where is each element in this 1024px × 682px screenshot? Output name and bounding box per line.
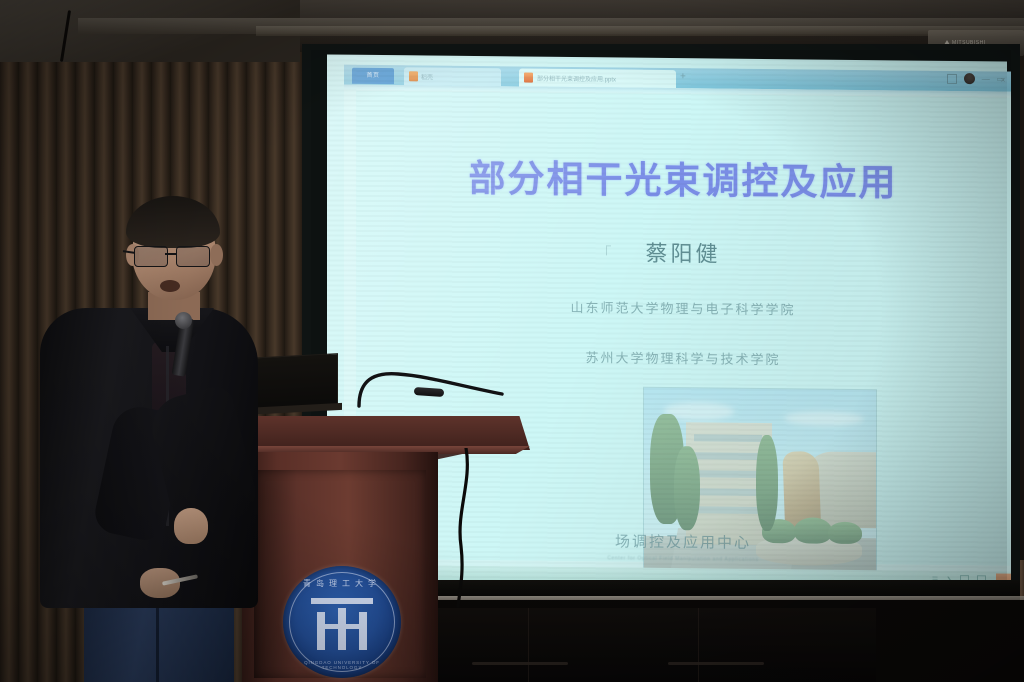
tab-docer-label: 稻壳 (421, 72, 433, 81)
emblem-name-en: QINGDAO UNIVERSITY OF TECHNOLOGY (283, 660, 401, 670)
emblem-glyph-icon (311, 598, 373, 650)
audio-cable (452, 448, 476, 608)
ceiling-beam-secondary (256, 26, 1024, 36)
minimize-window-icon[interactable]: — (982, 74, 990, 83)
gooseneck-microphone (356, 366, 508, 408)
presenter-right-hand (174, 508, 208, 544)
window-controls: — ▭ ✕ (947, 73, 1011, 85)
pptx-icon (524, 73, 533, 83)
tab-active-document[interactable]: 部分相干光束调控及应用.pptx (519, 68, 676, 88)
new-tab-icon[interactable]: + (680, 71, 686, 83)
presenter-mouth (160, 280, 180, 292)
presenter (34, 196, 264, 682)
eyeglasses-right-lens (176, 246, 210, 267)
presentation-room-scene: MITSUBISHI 首页 稻壳 部分相干光束调控及应用.pptx (0, 0, 1024, 682)
tab-home[interactable]: 首页 (352, 68, 394, 84)
user-avatar[interactable] (964, 73, 975, 84)
back-cabinet (368, 608, 876, 682)
wps-icon (409, 71, 418, 81)
emblem-name-cn: 青岛理工大学 (283, 578, 401, 589)
presentation-app-window[interactable]: 首页 稻壳 部分相干光束调控及应用.pptx ✕ + (344, 65, 1011, 590)
university-emblem: 青岛理工大学 QINGDAO UNIVERSITY OF TECHNOLOGY (283, 566, 401, 678)
tab-document-label: 部分相干光束调控及应用.pptx (537, 73, 616, 83)
presenter-hair (126, 196, 220, 248)
maximize-window-icon[interactable]: ▭ (997, 74, 1005, 83)
eyeglasses-bridge (165, 253, 177, 255)
tab-docer[interactable]: 稻壳 (404, 67, 501, 86)
slide-title: 部分相干光束调控及应用 (356, 147, 1010, 208)
restore-window-icon[interactable] (947, 73, 957, 83)
slide-author: 蔡阳健 (356, 233, 1010, 272)
presenter-right-ear (210, 244, 223, 266)
presenter-leg-seam (156, 598, 159, 682)
slide-affiliation-1: 山东师范大学物理与电子科学学院 (356, 295, 1010, 321)
eyeglasses-left-lens (134, 246, 168, 267)
tab-home-label: 首页 (352, 68, 394, 84)
